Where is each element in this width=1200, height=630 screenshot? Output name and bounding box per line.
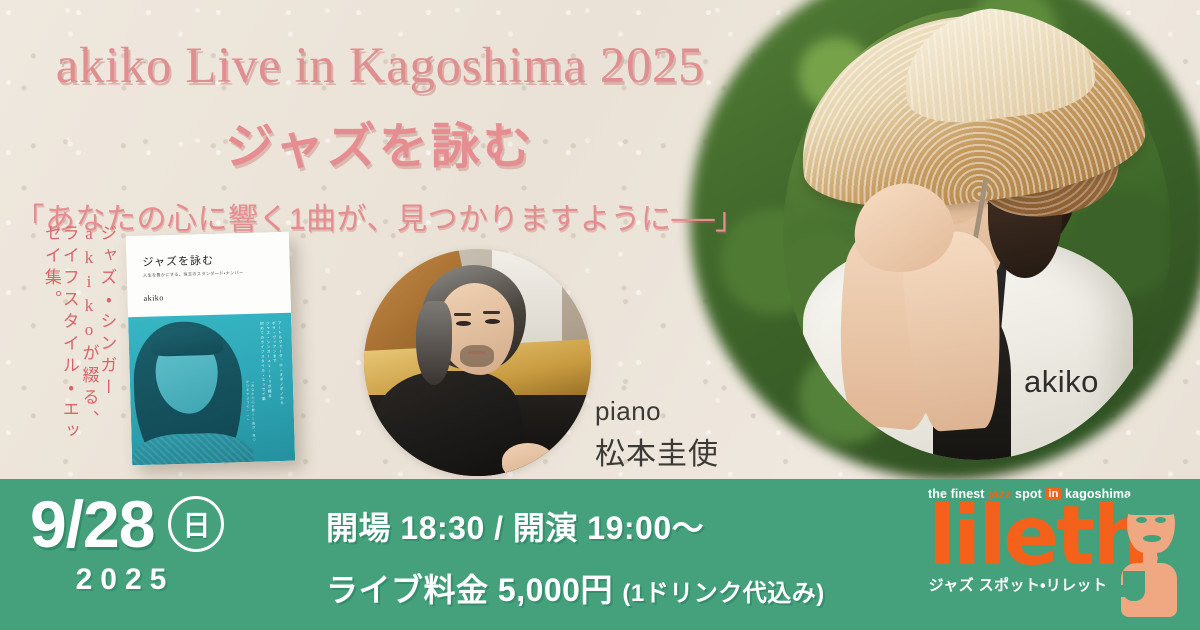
pianist-eye-right bbox=[485, 319, 500, 324]
book-cover-vertical-text: アートルヴェーダ、ホ・オポノポノから ボサ・ヴィアンまで ジャズ・シンガーaki… bbox=[260, 321, 286, 442]
akiko-name-label: akiko bbox=[1024, 364, 1099, 400]
venue-name-jp: ジャズ スポット・リレット bbox=[928, 574, 1108, 595]
mascot-notch bbox=[1117, 585, 1135, 597]
day-of-week-badge: 日 bbox=[168, 496, 224, 552]
vertical-copy-line-1: ジャズ・シンガーakikoが綴る、 bbox=[80, 224, 116, 464]
pianist-eye-left bbox=[456, 321, 471, 326]
mascot-eye-left bbox=[1136, 517, 1147, 523]
pianist-hair-side bbox=[416, 301, 452, 385]
pianist-jacket bbox=[372, 371, 522, 476]
mascot-eye-right bbox=[1155, 517, 1166, 523]
event-times: 開場 18:30 / 開演 19:00〜 bbox=[326, 503, 825, 549]
pianist-role: piano bbox=[595, 396, 719, 427]
event-date: 9/28 bbox=[30, 491, 154, 557]
pianist-portrait: KAWAI bbox=[364, 249, 591, 476]
event-year: 2025 bbox=[30, 563, 220, 597]
book-photo-bangs bbox=[150, 327, 223, 357]
book-author: akiko bbox=[143, 293, 164, 303]
venue-wordmark: lileth bbox=[928, 503, 1108, 570]
book-title: ジャズを詠む bbox=[142, 252, 214, 270]
pianist-hand bbox=[502, 443, 554, 476]
event-price-note: (1ドリンク代込み) bbox=[622, 580, 824, 607]
pianist-eyebrow-right bbox=[483, 311, 500, 314]
pianist-beard bbox=[460, 345, 494, 367]
pianist-mouth bbox=[468, 351, 486, 354]
event-price-row: ライブ料金 5,000円 (1ドリンク代込み) bbox=[326, 565, 825, 611]
book-cover-photo: アートルヴェーダ、ホ・オポノポノから ボサ・ヴィアンまで ジャズ・シンガーaki… bbox=[128, 313, 295, 465]
date-block: 9/28 日 2025 bbox=[30, 491, 310, 597]
venue-logo[interactable]: the finest jazz spot in kagoshima lileth… bbox=[928, 487, 1108, 595]
book-cover-quote-block: 「あなたの心に響く1曲が、見つかりますように──」 bbox=[245, 380, 257, 444]
event-info-block: 開場 18:30 / 開演 19:00〜 ライブ料金 5,000円 (1ドリンク… bbox=[326, 503, 825, 611]
pianist-eyebrow-left bbox=[454, 313, 471, 316]
vertical-copy-block: ジャズ・シンガーakikoが綴る、 ライフスタイル・エッセイ集。 bbox=[42, 224, 115, 464]
book-cover-quote: 「あなたの心に響く1曲が、見つかりますように──」 bbox=[245, 380, 257, 444]
pianist-credit: piano 松本圭使 bbox=[595, 396, 719, 473]
mascot-lips bbox=[1143, 535, 1161, 542]
book-cover: ジャズを詠む 人生を豊かにする、珠玉のスタンダード・ナンバー akiko アート… bbox=[126, 232, 295, 465]
event-poster: akiko akiko Live in Kagoshima 2025 ジャズを詠… bbox=[0, 0, 1200, 630]
event-price: ライブ料金 5,000円 bbox=[326, 572, 613, 608]
headline-block: akiko Live in Kagoshima 2025 ジャズを詠む 「あなた… bbox=[0, 0, 760, 238]
page-title: akiko Live in Kagoshima 2025 bbox=[0, 37, 760, 95]
date-row: 9/28 日 bbox=[30, 491, 310, 557]
venue-mascot-icon bbox=[1117, 493, 1183, 617]
subtitle: ジャズを詠む bbox=[0, 107, 760, 178]
akiko-portrait bbox=[783, 8, 1171, 460]
mascot-hair bbox=[1125, 491, 1177, 515]
footer-band: 9/28 日 2025 開場 18:30 / 開演 19:00〜 ライブ料金 5… bbox=[0, 479, 1200, 630]
pianist-name: 松本圭使 bbox=[595, 429, 719, 473]
vertical-copy-line-2: ライフスタイル・エッセイ集。 bbox=[42, 224, 78, 464]
